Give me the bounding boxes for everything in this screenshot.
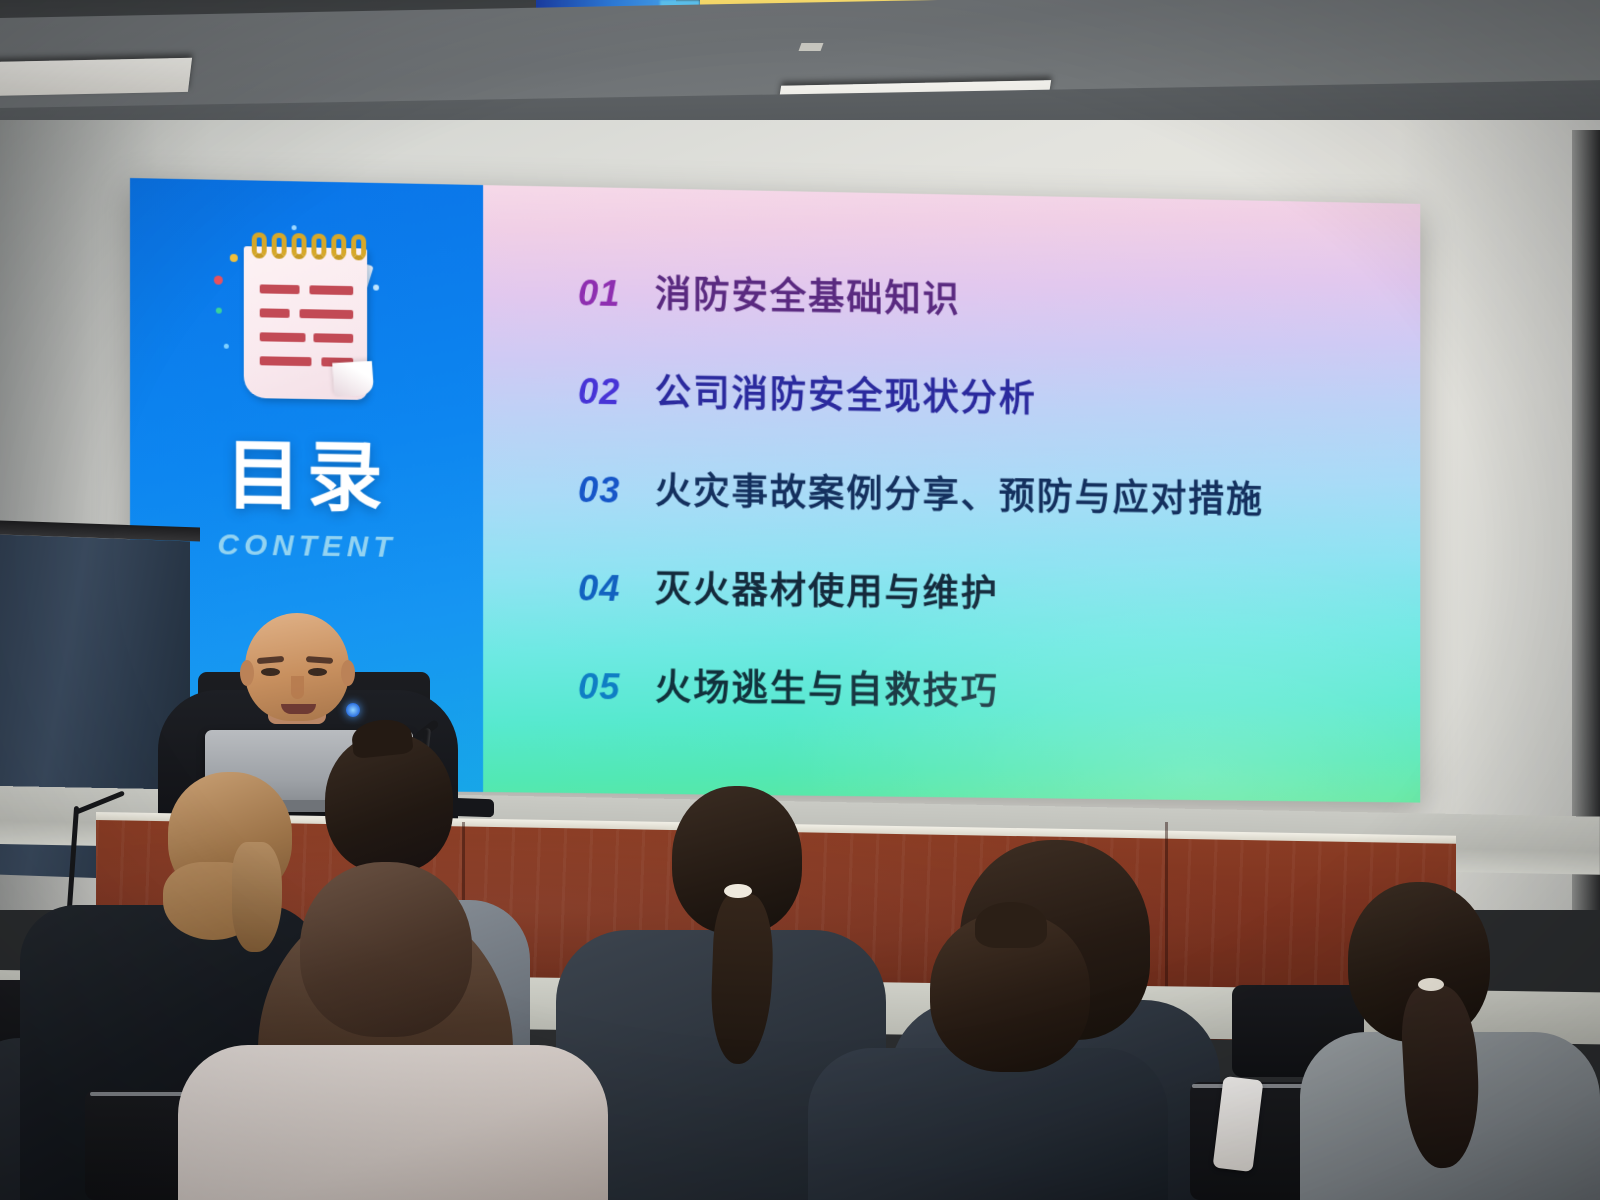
attendee-long-hair-head xyxy=(300,862,472,1037)
agenda-label: 消防安全基础知识 xyxy=(655,264,961,323)
slide-title-en: CONTENT xyxy=(217,528,396,565)
agenda-item: 01 消防安全基础知识 xyxy=(578,263,1402,332)
attendee-knit-sweater-torso xyxy=(178,1045,608,1200)
conference-room-photo: 目录 CONTENT 01 消防安全基础知识 02 公司消防安全现状分析 03 … xyxy=(0,0,1600,1200)
wall-shadow-right xyxy=(1400,120,1600,910)
agenda-number: 03 xyxy=(578,469,655,512)
agenda-label: 火灾事故案例分享、预防与应对措施 xyxy=(655,461,1264,524)
agenda-number: 05 xyxy=(578,666,655,709)
slide-right-panel: 01 消防安全基础知识 02 公司消防安全现状分析 03 火灾事故案例分享、预防… xyxy=(483,185,1420,803)
agenda-item: 02 公司消防安全现状分析 xyxy=(578,361,1402,428)
attendee-hair-knot xyxy=(975,902,1047,948)
decorative-dot-green xyxy=(215,308,221,314)
attendee-hair-strand xyxy=(232,842,282,952)
agenda-number: 04 xyxy=(578,568,655,611)
hair-tie xyxy=(1418,978,1444,991)
notepad-icon xyxy=(227,232,386,419)
presenter-nose xyxy=(291,676,304,699)
agenda-item: 05 火场逃生与自救技巧 xyxy=(578,656,1402,720)
ceiling-light-panel-left xyxy=(0,58,192,96)
agenda-number: 02 xyxy=(578,371,655,414)
agenda-label: 火场逃生与自救技巧 xyxy=(655,657,999,715)
decorative-dot-blue xyxy=(223,344,228,349)
decorative-dot-lightblue xyxy=(373,285,379,291)
presenter-ear-left xyxy=(240,660,254,686)
agenda-item: 03 火灾事故案例分享、预防与应对措施 xyxy=(578,459,1402,525)
presenter-badge-light xyxy=(346,703,360,717)
agenda-number: 01 xyxy=(578,273,655,316)
agenda-list: 01 消防安全基础知识 02 公司消防安全现状分析 03 火灾事故案例分享、预防… xyxy=(578,263,1402,765)
page-curl xyxy=(332,361,374,397)
agenda-label: 公司消防安全现状分析 xyxy=(655,362,1037,422)
spiral-binding-icon xyxy=(251,232,365,260)
decorative-dot-sky xyxy=(291,225,296,230)
hair-tie xyxy=(724,884,752,898)
ceiling-fixture-small xyxy=(799,43,824,51)
slide-title-cn: 目录 xyxy=(225,439,388,517)
decorative-dot-yellow xyxy=(229,254,237,262)
presenter-ear-right xyxy=(341,660,355,686)
decorative-dot-red xyxy=(213,276,222,285)
presenter-mouth xyxy=(281,704,316,714)
agenda-label: 灭火器材使用与维护 xyxy=(655,559,999,617)
presenter-eye-left xyxy=(261,668,280,676)
agenda-item: 04 灭火器材使用与维护 xyxy=(578,558,1402,623)
wall-corner-right xyxy=(1572,130,1600,910)
presenter-eye-right xyxy=(308,668,327,676)
